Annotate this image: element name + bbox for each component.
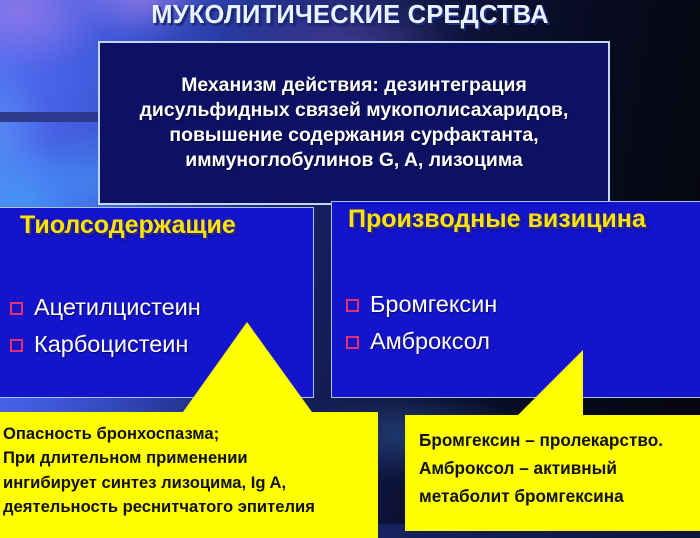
- callout-box-vasicine-note: Бромгексин – пролекарство. Амброксол – а…: [405, 415, 700, 531]
- drug-list-thiol: Ацетилцистеин Карбоцистеин: [10, 294, 201, 368]
- square-bullet-icon: [10, 339, 23, 352]
- drug-name: Ацетилцистеин: [34, 294, 201, 321]
- group-heading-vasicine: Производные визицина: [348, 205, 646, 234]
- list-item: Карбоцистеин: [10, 331, 201, 358]
- group-heading-thiol: Тиолсодержащие: [20, 211, 236, 240]
- square-bullet-icon: [10, 302, 23, 315]
- mechanism-box: Механизм действия: дезинтеграция дисульф…: [98, 41, 610, 205]
- list-item: Амброксол: [346, 328, 497, 355]
- callout-text: Опасность бронхоспазма; При длительном п…: [0, 412, 378, 520]
- slide-canvas: МУКОЛИТИЧЕСКИЕ СРЕДСТВА Механизм действи…: [0, 0, 700, 538]
- callout-pointer-left: [178, 322, 317, 419]
- callout-text: Бромгексин – пролекарство. Амброксол – а…: [405, 415, 700, 511]
- callout-box-thiol-warning: Опасность бронхоспазма; При длительном п…: [0, 412, 378, 538]
- slide-title: МУКОЛИТИЧЕСКИЕ СРЕДСТВА: [0, 1, 700, 30]
- drug-name: Карбоцистеин: [34, 331, 188, 358]
- mechanism-text: Механизм действия: дезинтеграция дисульф…: [100, 73, 608, 174]
- drug-name: Амброксол: [370, 328, 490, 355]
- square-bullet-icon: [346, 336, 359, 349]
- drug-list-vasicine: Бромгексин Амброксол: [346, 291, 497, 365]
- list-item: Бромгексин: [346, 291, 497, 318]
- callout-pointer-right: [513, 350, 583, 420]
- drug-name: Бромгексин: [370, 291, 497, 318]
- square-bullet-icon: [346, 299, 359, 312]
- list-item: Ацетилцистеин: [10, 294, 201, 321]
